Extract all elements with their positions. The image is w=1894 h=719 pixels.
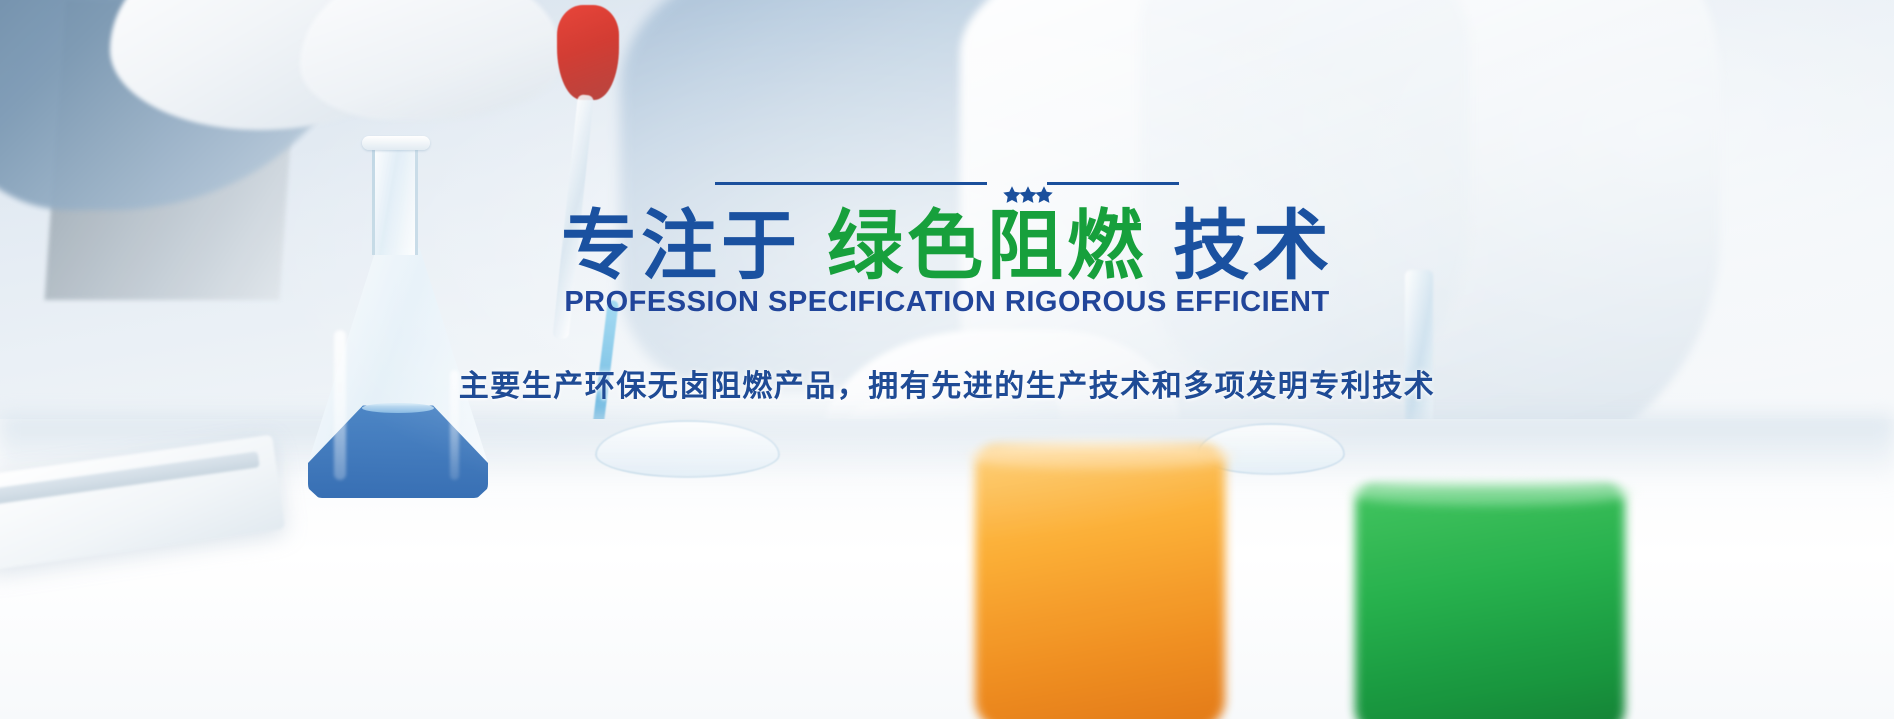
flask-meniscus [362,403,434,413]
divider-line-right [1047,182,1179,185]
hero-banner: 专注于绿色阻燃技术 PROFESSION SPECIFICATION RIGOR… [0,0,1894,719]
divider-line-left [715,182,987,185]
description-chinese: 主要生产环保无卤阻燃产品，拥有先进的生产技术和多项发明专利技术 [459,361,1436,405]
gloved-hand-second-icon [300,0,560,120]
flask-highlight [334,330,346,480]
flask-lip [362,136,430,150]
divider-with-stars [715,182,1179,185]
orange-beaker [975,445,1225,719]
flask-highlight-secondary [450,370,459,480]
green-beaker [1355,485,1625,719]
pipette-bulb-icon [557,5,619,100]
flask-neck [372,140,418,255]
subtitle-english: PROFESSION SPECIFICATION RIGOROUS EFFICI… [564,286,1329,319]
erlenmeyer-flask [300,140,560,505]
background-scene [0,0,1894,719]
bench-edge-shadow [0,415,1894,485]
title-part-one: 专注于 [561,204,801,289]
title-part-three: 技术 [1173,204,1333,289]
page-title: 专注于绿色阻燃技术 [561,206,1333,288]
green-beaker-lip [1348,478,1634,506]
orange-beaker-lip [968,440,1234,470]
title-part-two: 绿色阻燃 [827,204,1147,289]
